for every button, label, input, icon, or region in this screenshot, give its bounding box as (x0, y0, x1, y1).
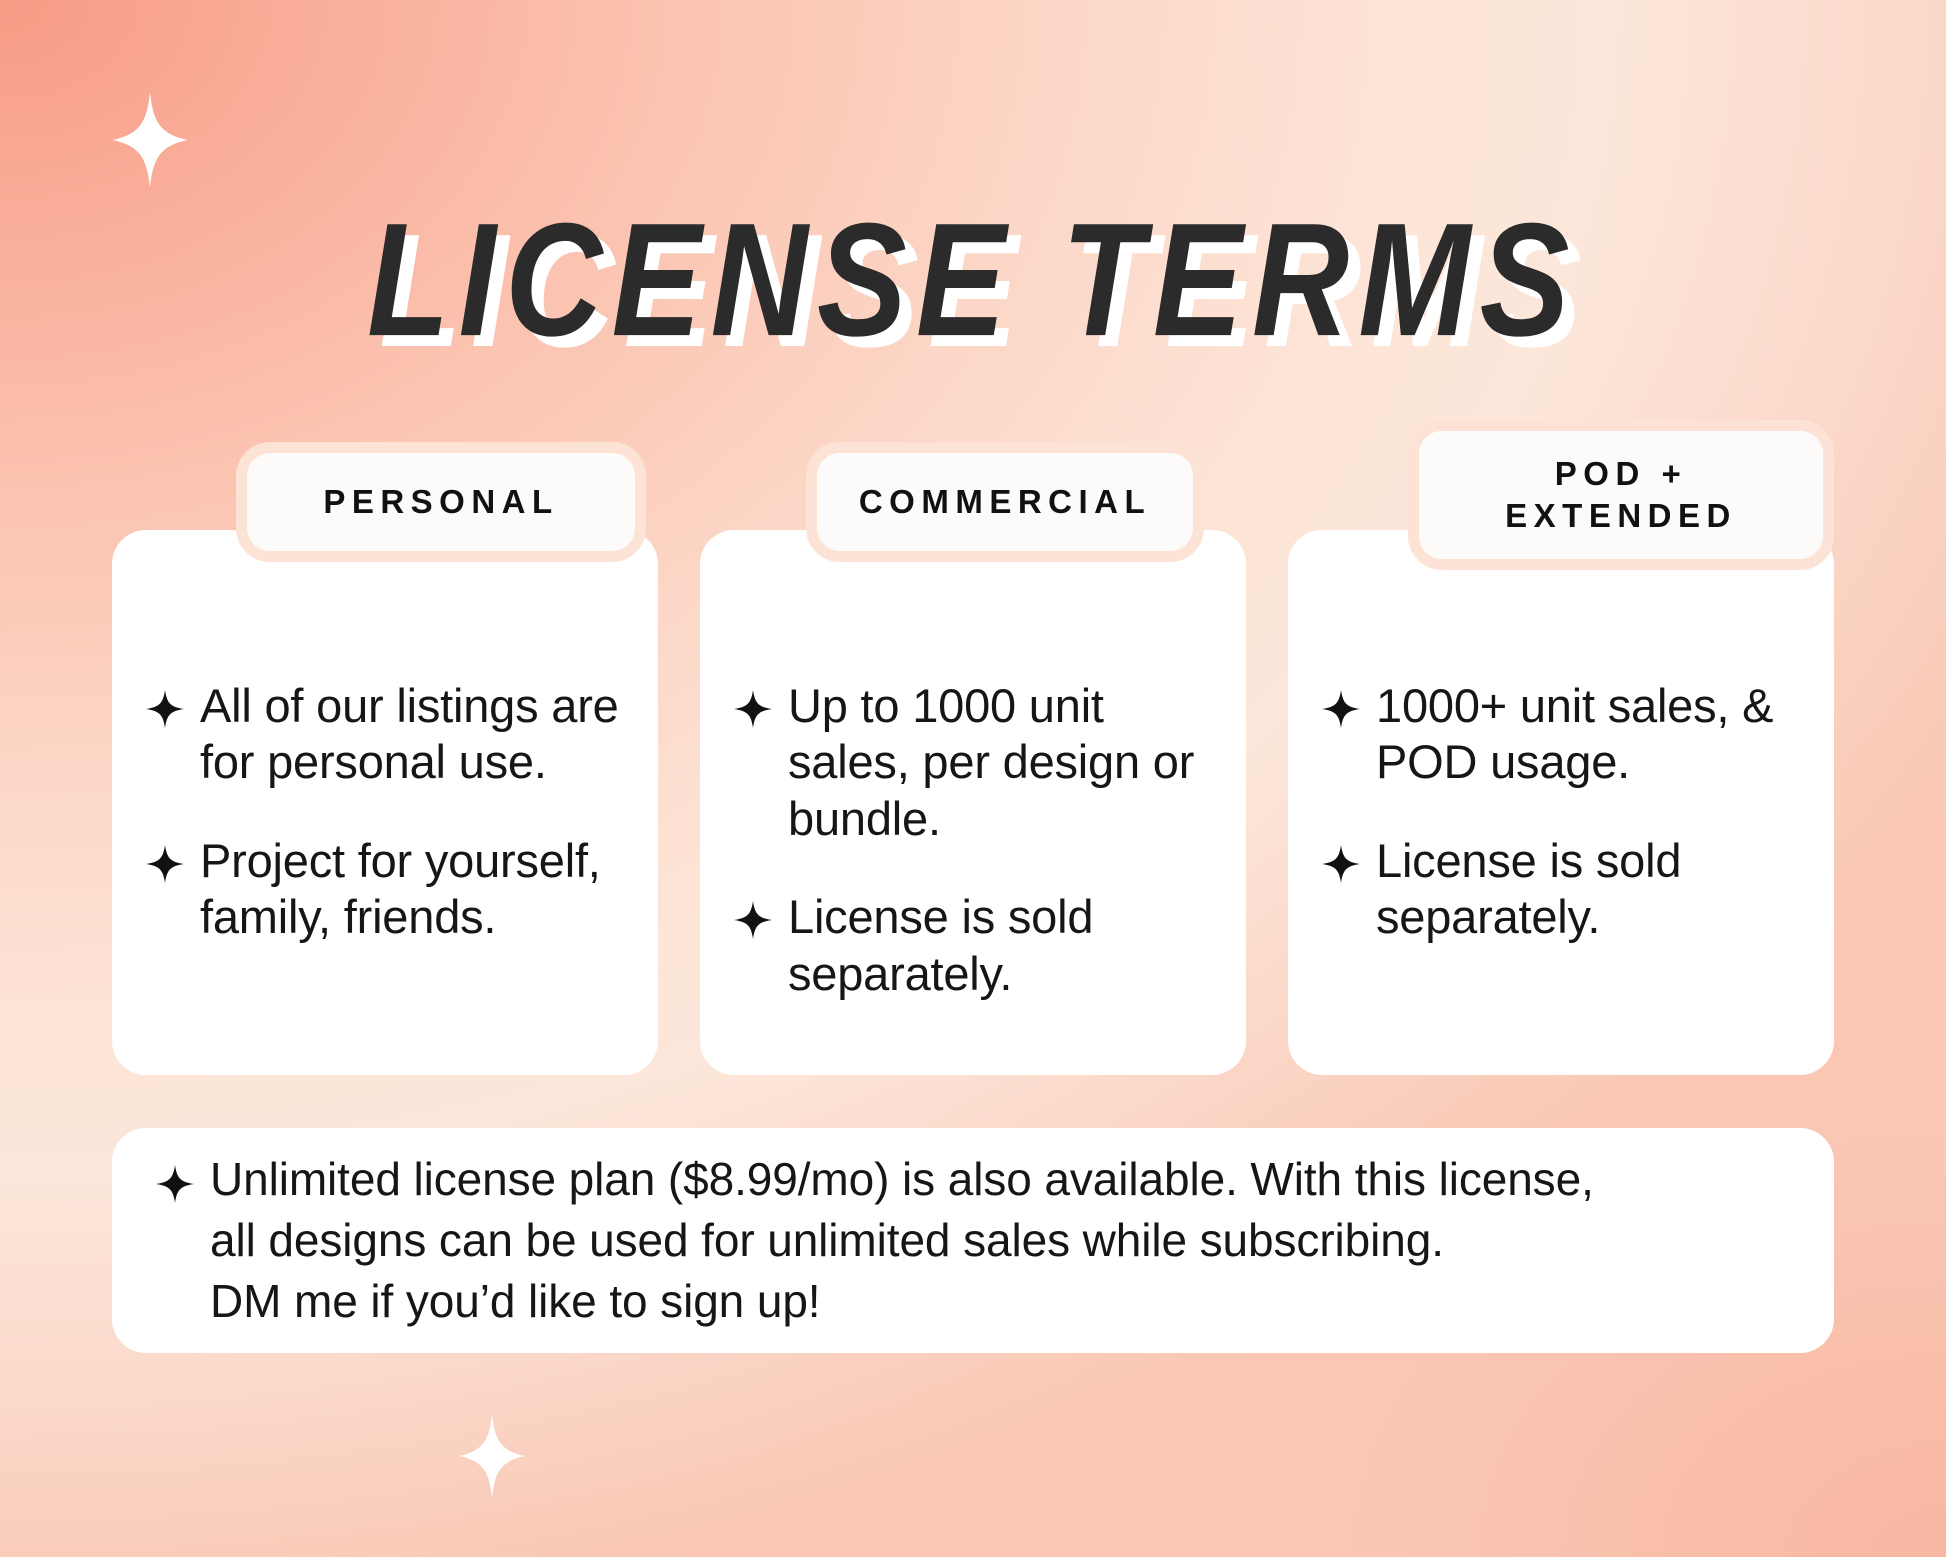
sparkle-bullet-icon (156, 1165, 194, 1203)
license-card-commercial: COMMERCIAL Up to 1000 unit sales, per de… (700, 530, 1246, 1075)
sparkle-bullet-icon (146, 845, 184, 883)
list-item-text: Up to 1000 unit sales, per design or bun… (788, 678, 1212, 847)
license-tiers-row: PERSONAL All of our listings are for per… (112, 530, 1834, 1075)
list-item: Up to 1000 unit sales, per design or bun… (734, 678, 1212, 847)
license-card-personal: PERSONAL All of our listings are for per… (112, 530, 658, 1075)
list-item: All of our listings are for personal use… (146, 678, 624, 791)
list-item: License is sold separately. (1322, 833, 1800, 946)
pod-extended-bullet-list: 1000+ unit sales, & POD usage. License i… (1322, 678, 1800, 946)
list-item: 1000+ unit sales, & POD usage. (1322, 678, 1800, 791)
tab-personal[interactable]: PERSONAL (236, 442, 646, 562)
tab-pod-extended-label: POD + EXTENDED (1505, 453, 1737, 537)
page-title: LICENSE TERMS (367, 196, 1579, 365)
tab-commercial[interactable]: COMMERCIAL (806, 442, 1204, 562)
tab-commercial-label: COMMERCIAL (859, 481, 1151, 523)
list-item-text: License is sold separately. (788, 889, 1212, 1002)
sparkle-bullet-icon (734, 901, 772, 939)
list-item: License is sold separately. (734, 889, 1212, 1002)
unlimited-plan-note-text: Unlimited license plan ($8.99/mo) is als… (210, 1149, 1594, 1333)
license-card-pod-extended: POD + EXTENDED 1000+ unit sales, & POD u… (1288, 530, 1834, 1075)
tab-personal-label: PERSONAL (323, 481, 558, 523)
sparkle-bullet-icon (146, 690, 184, 728)
sparkle-bullet-icon (1322, 845, 1360, 883)
sparkle-bullet-icon (734, 690, 772, 728)
list-item-text: License is sold separately. (1376, 833, 1800, 946)
list-item-text: All of our listings are for personal use… (200, 678, 624, 791)
list-item-text: Project for yourself, family, friends. (200, 833, 624, 946)
list-item: Unlimited license plan ($8.99/mo) is als… (156, 1149, 1594, 1333)
list-item-text: 1000+ unit sales, & POD usage. (1376, 678, 1800, 791)
tab-pod-extended[interactable]: POD + EXTENDED (1408, 420, 1834, 570)
sparkle-bullet-icon (1322, 690, 1360, 728)
unlimited-plan-note-card: Unlimited license plan ($8.99/mo) is als… (112, 1128, 1834, 1353)
commercial-bullet-list: Up to 1000 unit sales, per design or bun… (734, 678, 1212, 1002)
personal-bullet-list: All of our listings are for personal use… (146, 678, 624, 946)
list-item: Project for yourself, family, friends. (146, 833, 624, 946)
page-title-wrap: LICENSE TERMS (0, 196, 1946, 356)
